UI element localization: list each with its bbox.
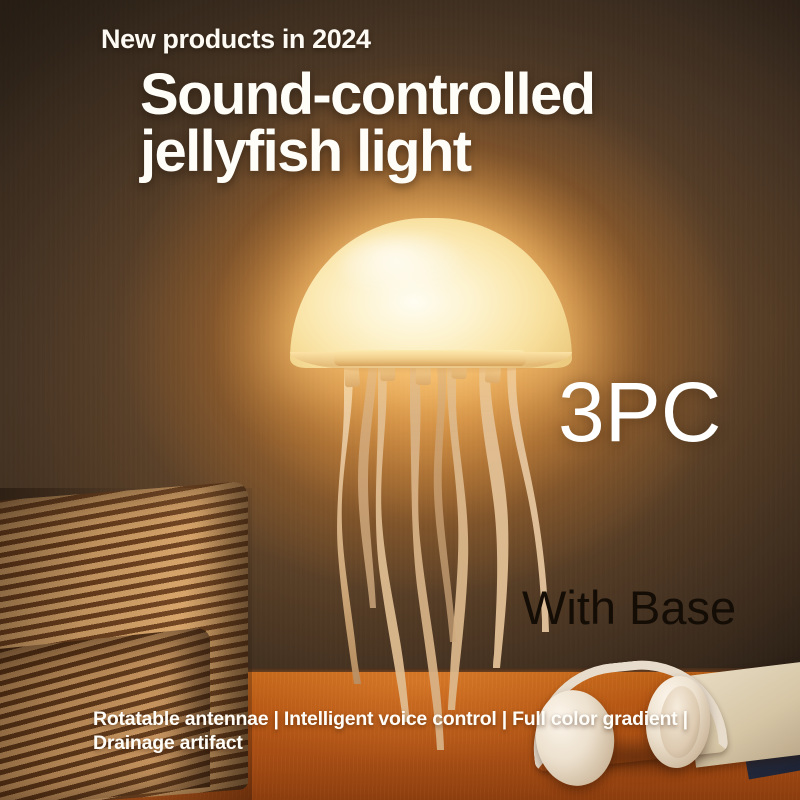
quantity-badge: 3PC <box>558 370 721 454</box>
feature-list-text: Rotatable antennae | Intelligent voice c… <box>93 707 753 755</box>
dome-base-strip <box>334 350 526 366</box>
page-title: Sound-controlled jellyfish light <box>140 66 760 181</box>
tentacle <box>354 354 402 612</box>
kicker-text: New products in 2024 <box>101 24 371 55</box>
product-ad-image: New products in 2024 Sound-controlled je… <box>0 0 800 800</box>
jellyfish-dome <box>290 218 572 368</box>
tentacle <box>422 354 470 646</box>
with-base-badge: With Base <box>522 584 736 631</box>
title-line-1: Sound-controlled <box>140 62 594 127</box>
title-line-2: jellyfish light <box>140 123 760 180</box>
